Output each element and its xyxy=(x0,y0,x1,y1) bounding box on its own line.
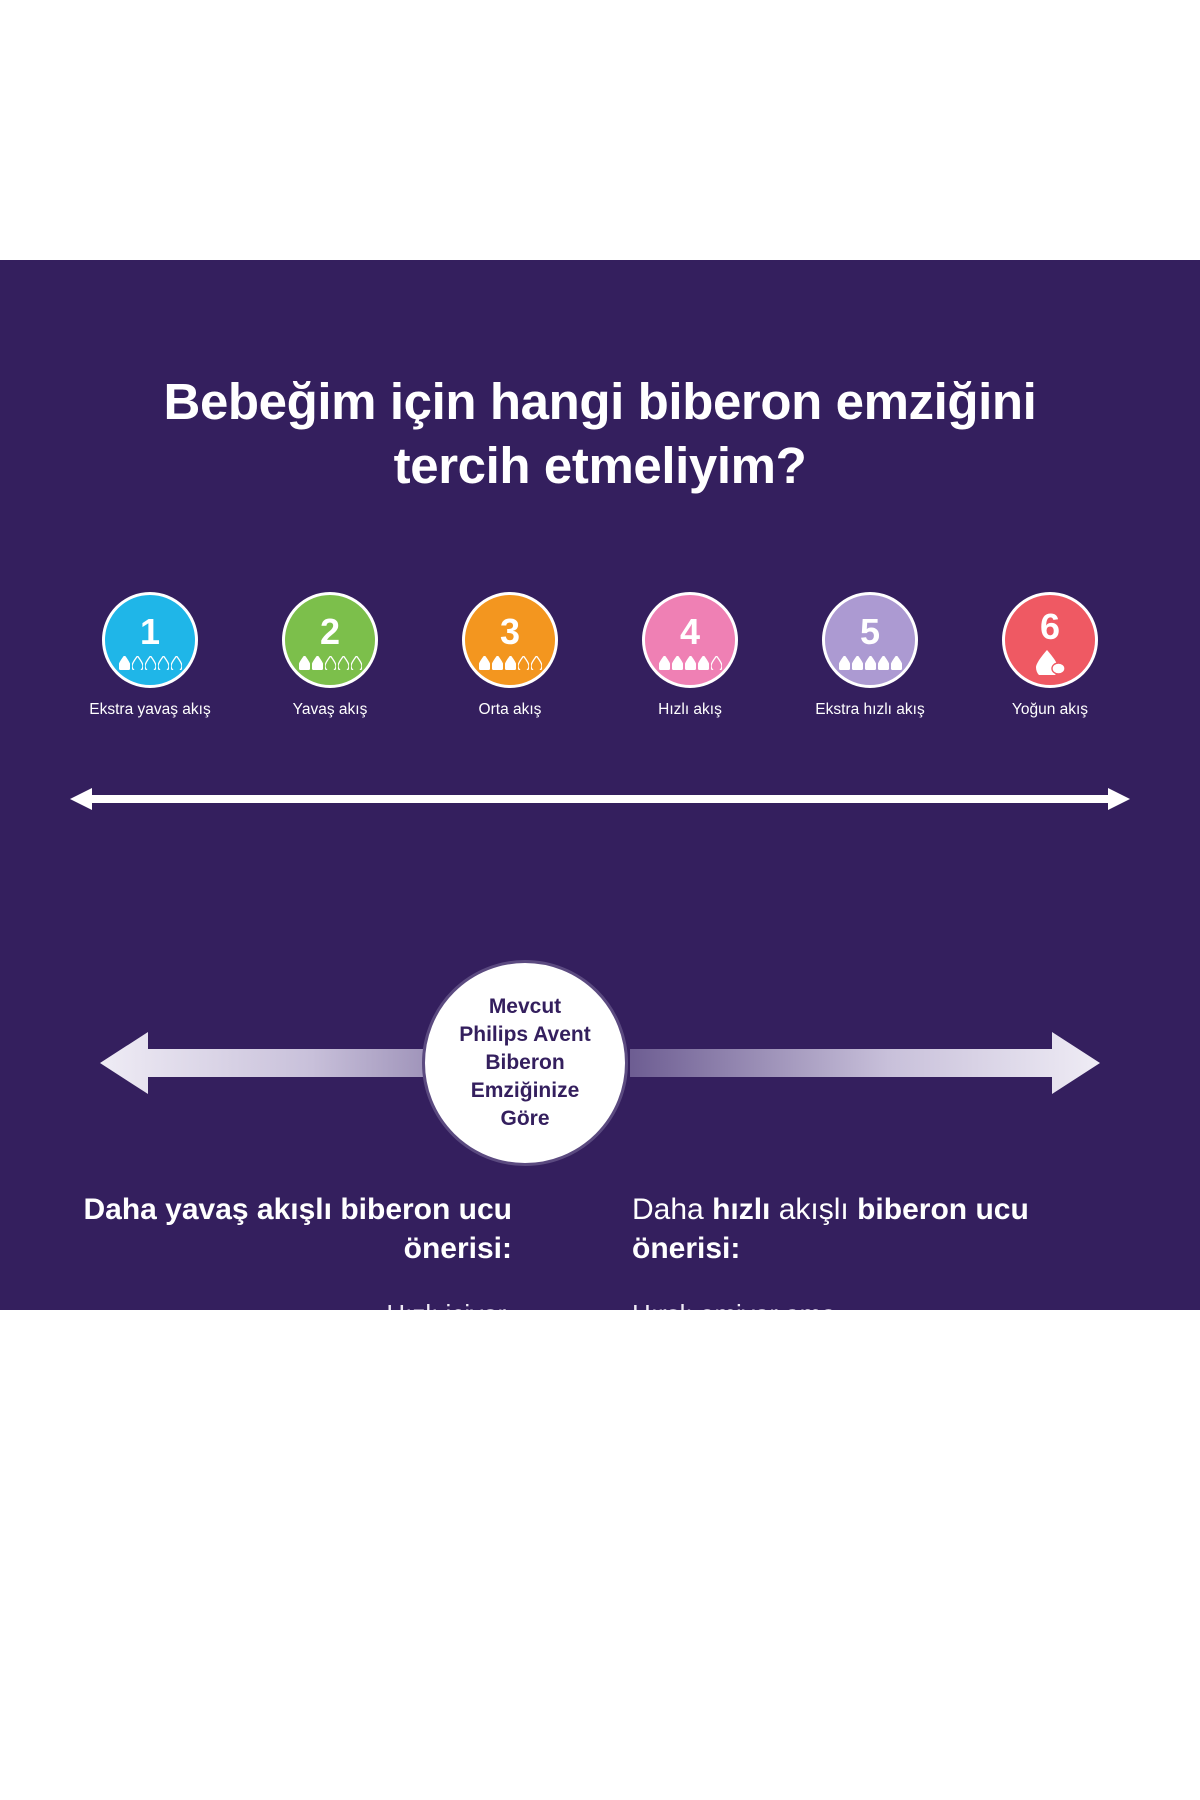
faster-flow-heading-pre: Daha xyxy=(632,1193,712,1226)
droplet-icon xyxy=(865,656,876,670)
flow-step-number-5: 5 xyxy=(860,614,880,650)
center-badge-line-5: Göre xyxy=(459,1105,590,1133)
droplet-icon xyxy=(132,656,143,670)
flow-step-label-4: Hızlı akış xyxy=(658,701,722,719)
droplet-icon xyxy=(698,656,709,670)
thick-flow-icon xyxy=(1033,649,1067,675)
droplet-icon xyxy=(531,656,542,670)
flow-scale: 1Ekstra yavaş akış2Yavaş akış3Orta akış4… xyxy=(70,592,1130,772)
flow-step-label-1: Ekstra yavaş akış xyxy=(89,701,210,719)
flow-step-3[interactable]: 3Orta akış xyxy=(430,592,590,719)
flow-step-drops-1 xyxy=(119,655,182,670)
faster-flow-body: Hırslı emiyor amaçabuk yorulabiliyor;emm… xyxy=(632,1296,1140,1310)
flow-step-circle-3: 3 xyxy=(462,592,558,688)
flow-step-circle-1: 1 xyxy=(102,592,198,688)
droplet-icon xyxy=(171,656,182,670)
flow-step-2[interactable]: 2Yavaş akış xyxy=(250,592,410,719)
flow-step-4[interactable]: 4Hızlı akış xyxy=(610,592,770,719)
flow-step-circle-2: 2 xyxy=(282,592,378,688)
flow-step-label-6: Yoğun akış xyxy=(1012,701,1088,719)
droplet-icon xyxy=(518,656,529,670)
faster-flow-heading: Daha hızlı akışlı biberon ucu önerisi: xyxy=(632,1190,1140,1268)
slower-flow-heading-line-2: biberon ucu önerisi: xyxy=(340,1193,512,1265)
flow-step-drops-4 xyxy=(659,655,722,670)
body-line: Hırslı emiyor ama xyxy=(632,1296,1140,1310)
droplet-icon xyxy=(492,656,503,670)
faster-flow-heading-bold: hızlı xyxy=(712,1193,770,1226)
faster-flow-heading-line-1: Daha hızlı akışlı xyxy=(632,1193,849,1226)
center-badge-line-4: Emziğinize xyxy=(459,1077,590,1105)
droplet-icon xyxy=(878,656,889,670)
recommendation-columns: Daha yavaş akışlı biberon ucu önerisi: H… xyxy=(60,1190,1140,1310)
center-badge-line-2: Philips Avent xyxy=(459,1021,590,1049)
flow-step-label-3: Orta akış xyxy=(479,701,542,719)
body-line: Hızlı içiyor, xyxy=(60,1296,512,1310)
flow-step-number-3: 3 xyxy=(500,614,520,650)
column-faster-flow: Daha hızlı akışlı biberon ucu önerisi: H… xyxy=(600,1190,1140,1310)
main-panel: Bebeğim için hangi biberon emziğini terc… xyxy=(0,260,1200,1310)
droplet-icon xyxy=(479,656,490,670)
center-badge: Mevcut Philips Avent Biberon Emziğinize … xyxy=(422,960,628,1166)
center-badge-line-1: Mevcut xyxy=(459,993,590,1021)
droplet-icon xyxy=(325,656,336,670)
flow-step-number-2: 2 xyxy=(320,614,340,650)
flow-scale-track: 1Ekstra yavaş akış2Yavaş akış3Orta akış4… xyxy=(70,592,1130,772)
droplet-icon xyxy=(312,656,323,670)
droplet-icon xyxy=(299,656,310,670)
droplet-icon xyxy=(839,656,850,670)
flow-step-circle-6: 6 xyxy=(1002,592,1098,688)
faster-flow-heading-post: akışlı xyxy=(770,1193,848,1226)
page-title: Bebeğim için hangi biberon emziğini terc… xyxy=(0,370,1200,499)
droplet-icon xyxy=(158,656,169,670)
droplet-icon xyxy=(351,656,362,670)
droplet-icon xyxy=(659,656,670,670)
flow-step-5[interactable]: 5Ekstra hızlı akış xyxy=(790,592,950,719)
flow-step-circle-5: 5 xyxy=(822,592,918,688)
flow-step-drops-2 xyxy=(299,655,362,670)
flow-step-number-4: 4 xyxy=(680,614,700,650)
flow-step-drops-5 xyxy=(839,655,902,670)
flow-step-label-2: Yavaş akış xyxy=(293,701,368,719)
center-badge-line-3: Biberon xyxy=(459,1049,590,1077)
flow-direction-arrow xyxy=(70,788,1130,810)
droplet-icon xyxy=(338,656,349,670)
droplet-icon xyxy=(711,656,722,670)
flow-step-number-1: 1 xyxy=(140,614,160,650)
flow-step-number-6: 6 xyxy=(1040,609,1060,645)
column-slower-flow: Daha yavaş akışlı biberon ucu önerisi: H… xyxy=(60,1190,600,1310)
droplet-icon xyxy=(505,656,516,670)
flow-step-6[interactable]: 6Yoğun akış xyxy=(970,592,1130,719)
droplet-icon xyxy=(852,656,863,670)
slower-flow-heading: Daha yavaş akışlı biberon ucu önerisi: xyxy=(60,1190,512,1268)
flow-step-drops-3 xyxy=(479,655,542,670)
droplet-icon xyxy=(119,656,130,670)
flow-step-1[interactable]: 1Ekstra yavaş akış xyxy=(70,592,230,719)
droplet-icon xyxy=(672,656,683,670)
droplet-icon xyxy=(685,656,696,670)
flow-step-circle-4: 4 xyxy=(642,592,738,688)
slower-flow-body: Hızlı içiyor,sütü çabuk yutabiliyor,ağzı… xyxy=(60,1296,512,1310)
slower-flow-heading-line-1: Daha yavaş akışlı xyxy=(83,1193,332,1226)
flow-step-label-5: Ekstra hızlı akış xyxy=(815,701,924,719)
droplet-icon xyxy=(891,656,902,670)
droplet-icon xyxy=(145,656,156,670)
infographic-page: Bebeğim için hangi biberon emziğini terc… xyxy=(0,0,1200,1800)
